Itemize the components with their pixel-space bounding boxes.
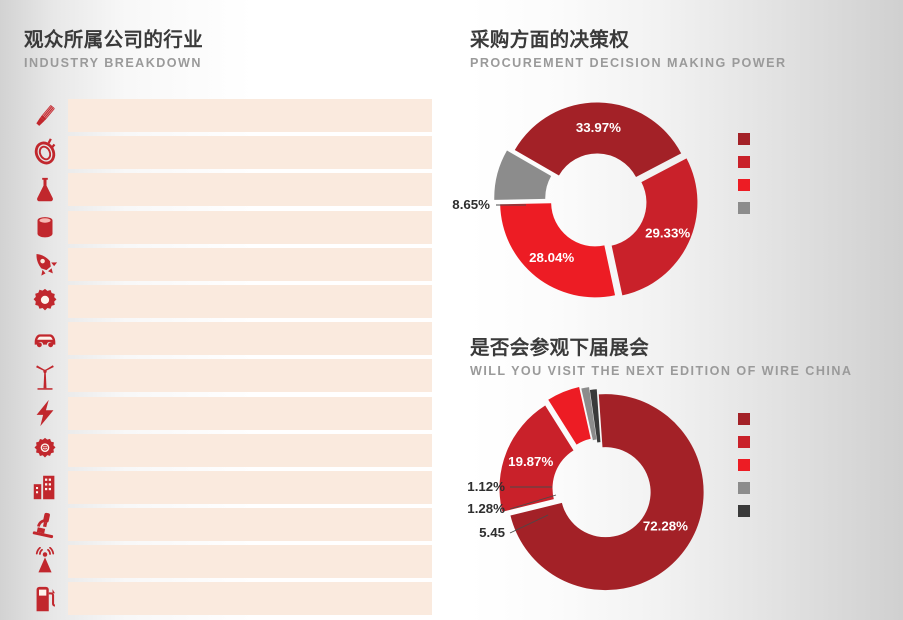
next-visit-legend-item [738,456,761,471]
infographic-page: 观众所属公司的行业 INDUSTRY BREAKDOWN 采购方面的决策权 PR… [0,0,903,620]
donut-value-label: 28.04% [529,250,574,265]
donut-value-label: 29.33% [645,226,690,241]
industry-row-band [68,211,432,244]
legend-color-swatch [738,482,750,494]
cog-chip-icon [22,434,68,467]
donut-value-label: 8.65% [452,197,490,212]
next-visit-title-cn: 是否会参观下届展会 [470,338,852,359]
procurement-legend [738,130,761,222]
next-visit-donut-chart: 72.28%19.87%5.451.28%1.12% [452,385,732,617]
industry-row [22,248,432,281]
industry-row [22,211,432,244]
next-visit-legend-item [738,410,761,425]
industry-row-band [68,136,432,169]
donut-slice [515,103,681,178]
legend-color-swatch [738,179,750,191]
legend-color-swatch [738,133,750,145]
industry-row-band [68,173,432,206]
industry-row [22,285,432,318]
industry-row [22,582,432,615]
industry-row [22,434,432,467]
lightning-bolt-icon [22,397,68,430]
industry-row-band [68,397,432,430]
industry-row [22,359,432,392]
industry-row-band [68,471,432,504]
industry-row-band [68,322,432,355]
gear-icon [22,285,68,318]
next-visit-heading: 是否会参观下届展会 WILL YOU VISIT THE NEXT EDITIO… [470,338,852,379]
legend-color-swatch [738,459,750,471]
wind-turbine-icon [22,359,68,392]
industry-row-band [68,508,432,541]
charts-column: 采购方面的决策权 PROCUREMENT DECISION MAKING POW… [450,0,903,620]
industry-row [22,322,432,355]
industry-row [22,173,432,206]
legend-color-swatch [738,436,750,448]
procurement-legend-item [738,130,761,145]
donut-value-label: 5.45 [479,525,505,540]
donut-value-label: 72.28% [643,518,688,533]
industry-row-band [68,434,432,467]
next-visit-legend-item [738,502,761,517]
legend-color-swatch [738,505,750,517]
industry-row [22,397,432,430]
flask-icon [22,173,68,206]
fuel-pump-icon [22,582,68,615]
next-visit-legend [738,410,761,525]
industry-row [22,471,432,504]
industry-row-band [68,582,432,615]
next-visit-legend-item [738,479,761,494]
procurement-heading: 采购方面的决策权 PROCUREMENT DECISION MAKING POW… [470,30,787,71]
industry-row-band [68,545,432,578]
antenna-icon [22,545,68,578]
legend-color-swatch [738,156,750,168]
industry-row-band [68,248,432,281]
procurement-legend-item [738,153,761,168]
industry-title-en: INDUSTRY BREAKDOWN [24,57,203,71]
car-icon [22,322,68,355]
tube-icon [22,211,68,244]
industry-list [22,99,432,620]
donut-value-label: 19.87% [508,454,553,469]
next-visit-legend-item [738,433,761,448]
industry-row [22,136,432,169]
industry-row-band [68,99,432,132]
buildings-icon [22,471,68,504]
donut-slice-path [515,103,681,178]
donut-value-label: 33.97% [576,120,621,135]
wire-coil-icon [22,136,68,169]
next-visit-title-en: WILL YOU VISIT THE NEXT EDITION OF WIRE … [470,365,852,379]
industry-breakdown-section: 观众所属公司的行业 INDUSTRY BREAKDOWN [0,0,450,620]
procurement-legend-item [738,176,761,191]
industry-row [22,99,432,132]
legend-color-swatch [738,202,750,214]
industry-row-band [68,285,432,318]
legend-color-swatch [738,413,750,425]
industry-row [22,545,432,578]
industry-row-band [68,359,432,392]
rocket-icon [22,248,68,281]
procurement-legend-item [738,199,761,214]
industry-row [22,508,432,541]
industry-title-cn: 观众所属公司的行业 [24,30,203,51]
donut-value-label: 1.28% [467,501,505,516]
procurement-donut-chart: 33.97%29.33%28.04%8.65% [452,92,722,317]
industry-heading: 观众所属公司的行业 INDUSTRY BREAKDOWN [24,30,203,71]
procurement-title-en: PROCUREMENT DECISION MAKING POWER [470,57,787,71]
cable-icon [22,99,68,132]
donut-value-label: 1.12% [467,479,505,494]
procurement-title-cn: 采购方面的决策权 [470,30,787,51]
microscope-icon [22,508,68,541]
